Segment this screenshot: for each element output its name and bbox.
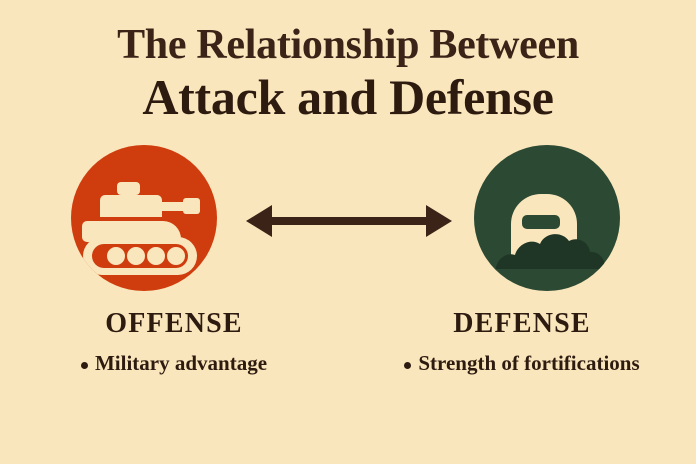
offense-bullet-text: Military advantage: [95, 351, 267, 375]
double-headed-arrow-icon: [246, 203, 452, 239]
defense-bullet-list: Strength of fortifications: [348, 352, 696, 375]
bullet-dot-icon: [404, 362, 411, 369]
column-offense: OFFENSE Military advantage: [0, 309, 348, 375]
defense-bullet-text: Strength of fortifications: [418, 351, 639, 375]
bunker-icon: [474, 145, 620, 291]
offense-icon-circle: [71, 145, 217, 291]
title-line-2: Attack and Defense: [0, 72, 696, 122]
list-item: Military advantage: [0, 352, 348, 375]
infographic-canvas: The Relationship Between Attack and Defe…: [0, 0, 696, 464]
list-item: Strength of fortifications: [348, 352, 696, 375]
title-block: The Relationship Between Attack and Defe…: [0, 24, 696, 122]
offense-heading: OFFENSE: [0, 309, 348, 338]
relationship-arrow: [246, 203, 452, 239]
title-line-1: The Relationship Between: [0, 24, 696, 66]
tank-icon: [71, 145, 217, 291]
defense-icon-circle: [474, 145, 620, 291]
columns-row: OFFENSE Military advantage DEFENSE Stren…: [0, 309, 696, 375]
defense-heading: DEFENSE: [348, 309, 696, 338]
column-defense: DEFENSE Strength of fortifications: [348, 309, 696, 375]
offense-bullet-list: Military advantage: [0, 352, 348, 375]
bullet-dot-icon: [81, 362, 88, 369]
